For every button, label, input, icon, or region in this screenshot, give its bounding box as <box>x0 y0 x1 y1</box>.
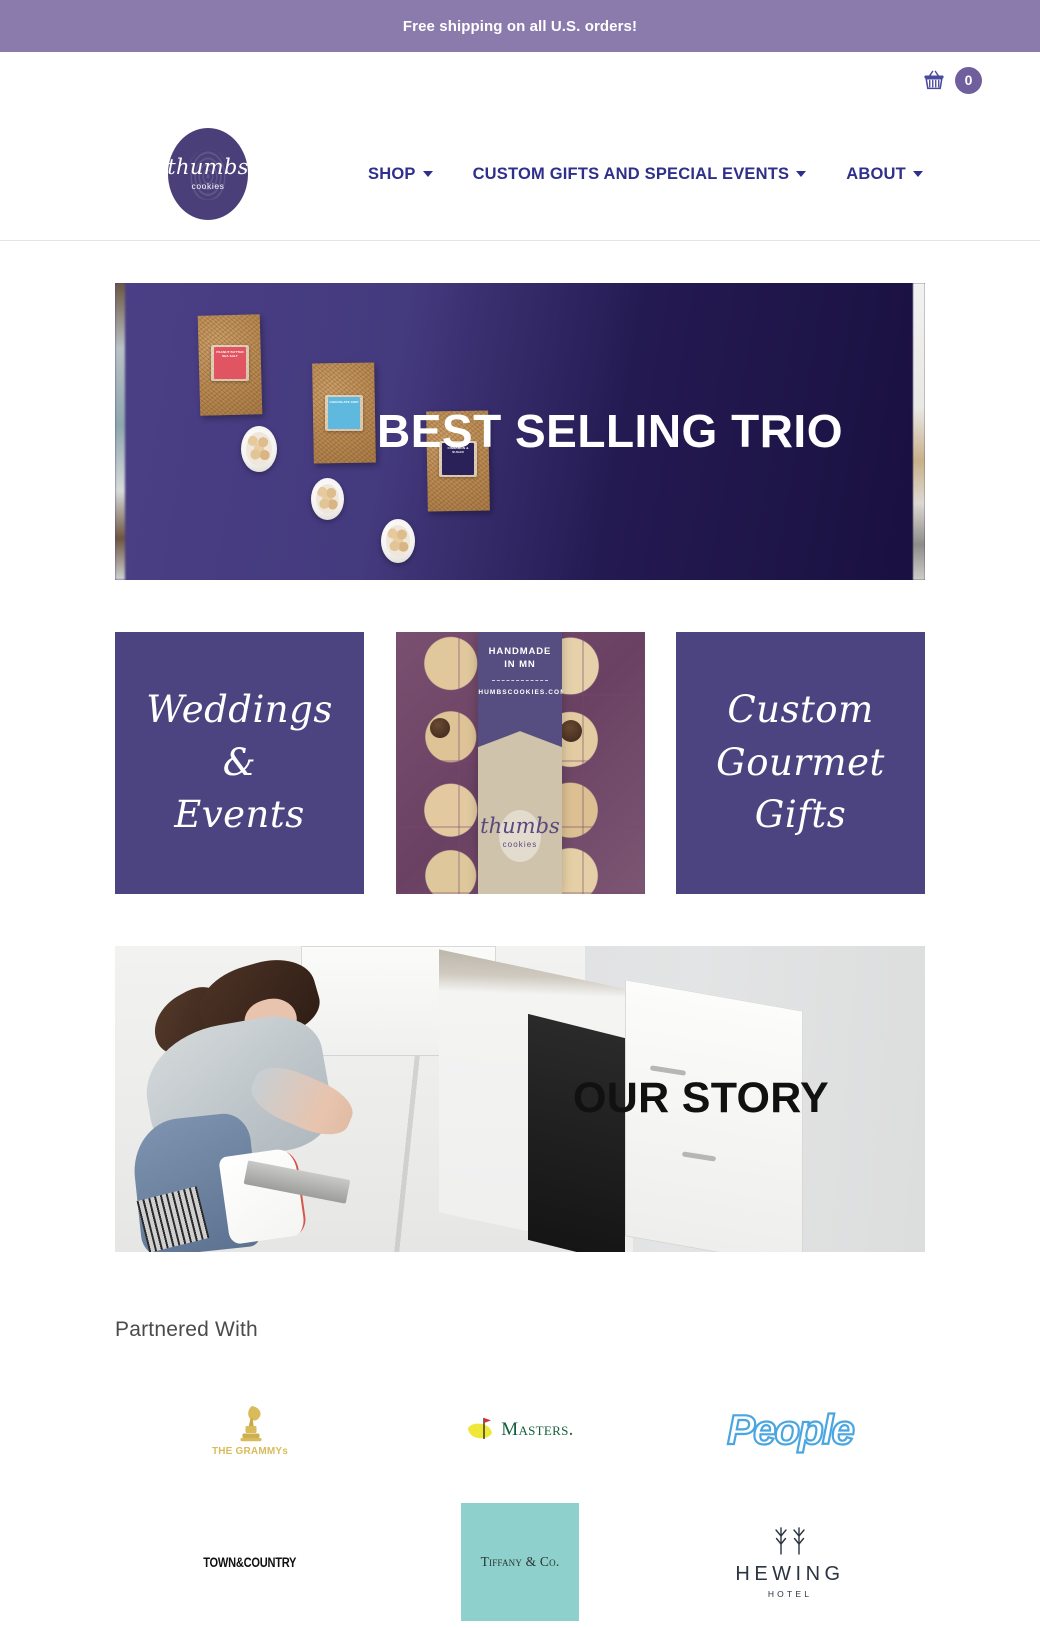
nav-item-shop[interactable]: SHOP <box>368 165 433 184</box>
cookie-bowl-1 <box>241 426 277 472</box>
our-story-headline: OUR STORY <box>573 1074 829 1124</box>
chevron-down-icon <box>913 171 923 177</box>
partner-label-masters: Masters. <box>501 1419 573 1441</box>
partners-title: Partnered With <box>115 1318 925 1342</box>
partner-label-people: People <box>727 1409 853 1451</box>
baker-figure <box>131 958 390 1252</box>
partner-logo-grammys[interactable]: THE GRAMMYs <box>115 1364 385 1496</box>
tile-weddings-and-events[interactable]: Weddings & Events <box>115 632 364 894</box>
band-headline: HANDMADE IN MN <box>489 646 552 671</box>
partners-section: Partnered With THE GRAMMYs <box>115 1318 925 1628</box>
nav-item-about[interactable]: ABOUT <box>846 165 923 184</box>
band-logo: thumbs cookies <box>478 816 563 849</box>
cart-row: 0 <box>0 52 1040 108</box>
packaging-band-top: HANDMADE IN MN THUMBSCOOKIES.COM <box>478 632 563 747</box>
partner-logo-town-and-country[interactable]: TOWN&COUNTRY <box>115 1496 385 1628</box>
band-logo-subtext: cookies <box>503 840 538 849</box>
announcement-text: Free shipping on all U.S. orders! <box>403 18 637 35</box>
page-content: PEANUT BUTTER SEA SALT CHOCOLATE CHIP CI… <box>115 283 925 1628</box>
partner-logo-tiffany[interactable]: Tiffany & Co. <box>385 1496 655 1628</box>
cart-count-badge[interactable]: 0 <box>955 67 982 94</box>
partner-sublabel-hewing: HOTEL <box>768 1589 812 1599</box>
grammy-gramophone-icon <box>232 1404 268 1444</box>
cookie-package-chocolate-chip: CHOCOLATE CHIP <box>325 395 363 431</box>
chevron-down-icon <box>423 171 433 177</box>
hero-right-photo-sliver <box>913 283 925 580</box>
package-label-1: PEANUT BUTTER SEA SALT <box>214 351 246 359</box>
shopping-basket-icon[interactable] <box>923 70 945 90</box>
category-tiles: Weddings & Events HANDMADE IN MN THUMBSC… <box>115 632 925 894</box>
tile-custom-gourmet-gifts[interactable]: Custom Gourmet Gifts <box>676 632 925 894</box>
cookie-bowl-3 <box>381 519 415 563</box>
site-logo[interactable]: thumbs cookies <box>168 128 248 220</box>
our-story-banner[interactable]: OUR STORY <box>115 946 925 1252</box>
oven <box>528 1013 625 1252</box>
partner-label-hewing: HEWING <box>735 1564 844 1584</box>
partner-label-tiffany: Tiffany & Co. <box>481 1554 560 1570</box>
nav-item-shop-label: SHOP <box>368 165 416 184</box>
tiffany-blue-box: Tiffany & Co. <box>461 1503 579 1621</box>
nav-item-custom-gifts-label: CUSTOM GIFTS AND SPECIAL EVENTS <box>473 165 790 184</box>
partner-label-town-and-country: TOWN&COUNTRY <box>204 1555 297 1570</box>
partner-logo-hewing-hotel[interactable]: HEWING HOTEL <box>655 1496 925 1628</box>
band-url: THUMBSCOOKIES.COM <box>473 689 566 696</box>
hero-banner-best-selling-trio[interactable]: PEANUT BUTTER SEA SALT CHOCOLATE CHIP CI… <box>115 283 925 580</box>
nav-item-about-label: ABOUT <box>846 165 906 184</box>
hero-headline: BEST SELLING TRIO <box>377 406 843 458</box>
chevron-down-icon <box>796 171 806 177</box>
band-divider <box>492 680 548 681</box>
partner-logo-masters[interactable]: Masters. <box>385 1364 655 1496</box>
announcement-bar: Free shipping on all U.S. orders! <box>0 0 1040 52</box>
tile-weddings-label: Weddings & Events <box>146 684 333 842</box>
tile-gifts-label: Custom Gourmet Gifts <box>716 684 885 842</box>
tile-cookie-box-photo[interactable]: HANDMADE IN MN THUMBSCOOKIES.COM thumbs … <box>396 632 645 894</box>
partner-logo-people[interactable]: People <box>655 1364 925 1496</box>
partners-grid: THE GRAMMYs Masters. People TOWN&COUNTRY <box>115 1364 925 1628</box>
logo-wordmark: thumbs <box>168 157 248 178</box>
package-label-2: CHOCOLATE CHIP <box>329 401 358 405</box>
masters-flag-map-icon <box>466 1415 496 1445</box>
chocolate-thumbprint-2 <box>560 720 582 742</box>
main-navigation: SHOP CUSTOM GIFTS AND SPECIAL EVENTS ABO… <box>368 165 923 184</box>
hewing-trees-icon <box>764 1525 816 1557</box>
cookie-package-peanut-butter-sea-salt: PEANUT BUTTER SEA SALT <box>211 345 249 381</box>
partner-label-grammys: THE GRAMMYs <box>212 1446 288 1457</box>
band-logo-wordmark: thumbs <box>480 816 560 837</box>
logo-subtext: cookies <box>191 181 224 191</box>
packaging-band: HANDMADE IN MN THUMBSCOOKIES.COM thumbs … <box>478 632 563 894</box>
site-header: thumbs cookies SHOP CUSTOM GIFTS AND SPE… <box>0 108 1040 241</box>
nav-item-custom-gifts[interactable]: CUSTOM GIFTS AND SPECIAL EVENTS <box>473 165 807 184</box>
cookie-bowl-2 <box>311 478 344 520</box>
hero-left-photo-sliver <box>115 283 125 580</box>
chocolate-thumbprint-1 <box>430 718 450 738</box>
